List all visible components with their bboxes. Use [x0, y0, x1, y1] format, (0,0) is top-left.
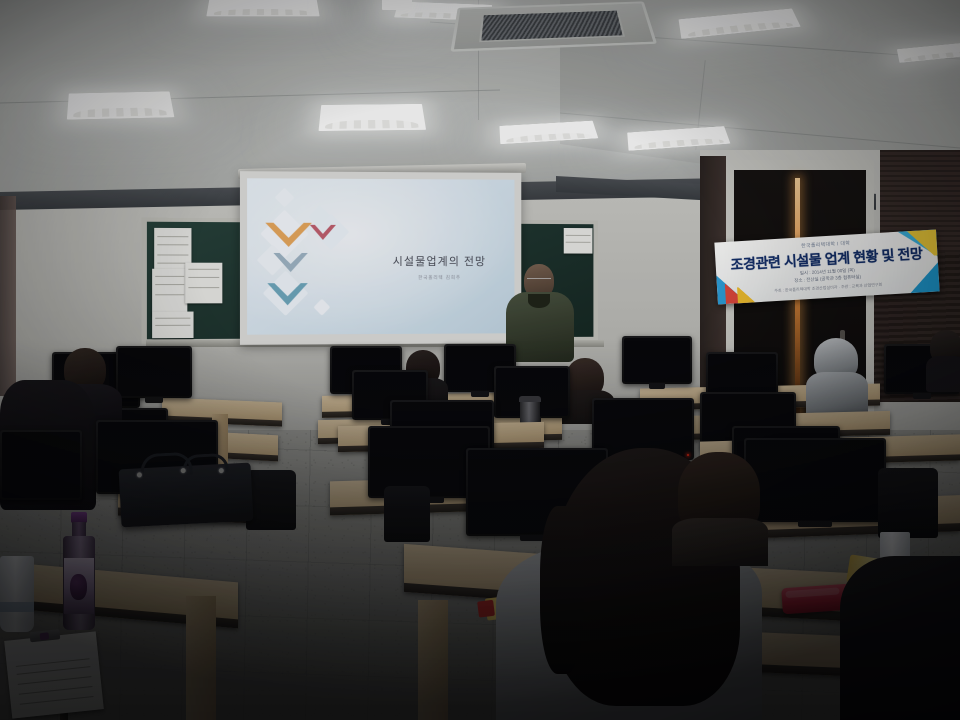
paper-cup[interactable] [0, 556, 34, 632]
desk-foreground-center-panel [418, 600, 448, 720]
student-right-foreground [840, 556, 960, 720]
clipboard-with-paper[interactable] [4, 631, 104, 718]
monitor[interactable] [622, 336, 692, 384]
ceiling-light [67, 91, 174, 119]
chevron-shape-icon [265, 223, 311, 251]
air-conditioner-grill [479, 9, 625, 42]
snack-label [477, 600, 495, 618]
black-handbag[interactable] [119, 463, 254, 528]
lecture-hall-photo: 한국폴리텍대학 I 대학 조경관련 시설물 업계 현황 및 전망 일시 : 20… [0, 0, 960, 720]
student-hair-strand [540, 506, 584, 674]
slide-chevron-blue [267, 283, 307, 309]
monitor[interactable] [116, 346, 192, 398]
event-banner: 한국폴리텍대학 I 대학 조경관련 시설물 업계 현황 및 전망 일시 : 20… [714, 229, 939, 304]
student-hoodie-right [806, 338, 868, 416]
student-body [672, 518, 768, 566]
ceiling-light [319, 104, 427, 131]
notice-sheet-2 [152, 269, 187, 316]
student-body [926, 356, 960, 392]
ceiling-light [382, 0, 412, 10]
chevron-shape-icon [310, 225, 336, 243]
grape-juice-bottle[interactable] [62, 512, 96, 630]
slide-title: 시설물업계의 전망 [376, 253, 503, 269]
slide-subtitle: 한국폴리텍 김희주 [380, 275, 499, 281]
ceiling-light [206, 0, 319, 16]
slide-chevron-grey [273, 253, 307, 275]
student-right-rear [926, 330, 960, 390]
slide-chevron-orange [265, 223, 311, 251]
left-wall-edge [0, 196, 16, 396]
presenter-collar [528, 294, 550, 308]
notice-sheet-5 [564, 228, 593, 254]
grape-graphic [70, 574, 87, 600]
notice-sheet-3 [185, 263, 222, 304]
chair[interactable] [384, 486, 430, 542]
student-jacket [840, 556, 960, 720]
projector-screen: 시설물업계의 전망 한국폴리텍 김희주 [240, 171, 521, 345]
presenter-glasses [527, 278, 551, 284]
monitor[interactable] [0, 430, 82, 500]
air-conditioner-unit [450, 1, 657, 51]
presenter [506, 264, 576, 360]
notice-sheet-4 [152, 312, 193, 339]
clipboard-knob [40, 632, 50, 640]
chair[interactable] [878, 468, 938, 538]
chevron-shape-icon [267, 283, 307, 309]
projected-slide: 시설물업계의 전망 한국폴리텍 김희주 [247, 178, 514, 334]
slide-chevron-red [310, 225, 336, 243]
student-mid-right [672, 452, 768, 562]
chair[interactable] [246, 470, 296, 530]
chevron-shape-icon [273, 253, 307, 275]
desk-foreground-left-panel [186, 596, 216, 720]
